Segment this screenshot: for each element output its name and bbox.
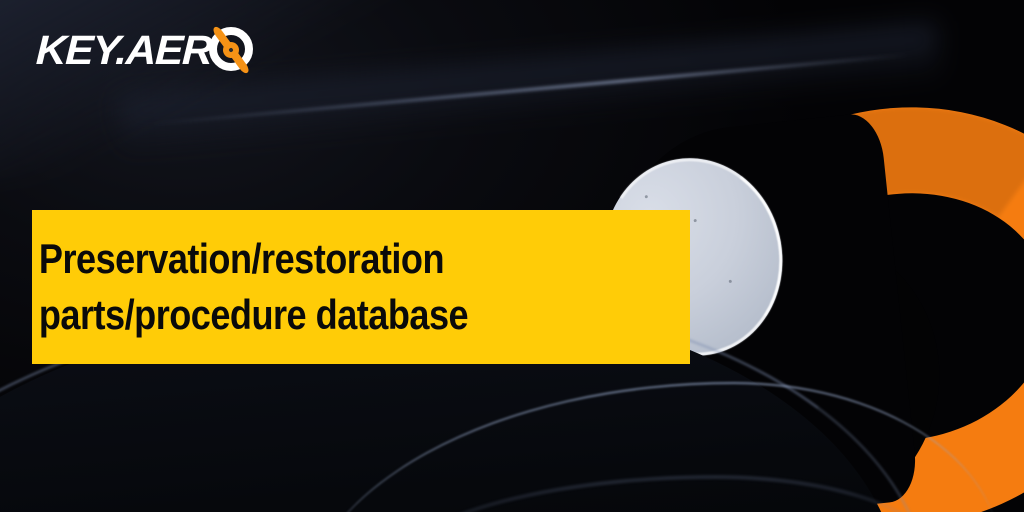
propeller-icon xyxy=(206,25,256,75)
title-line-1: Preservation/restoration xyxy=(32,231,598,287)
key-aero-logo[interactable]: KEY.AER xyxy=(36,22,256,78)
title-line-2: parts/procedure database xyxy=(32,287,598,343)
article-header-banner: Preservation/restoration parts/procedure… xyxy=(0,0,1024,512)
logo-wordmark: KEY.AER xyxy=(35,30,212,71)
propeller-blades xyxy=(196,15,266,85)
title-banner: Preservation/restoration parts/procedure… xyxy=(32,210,690,364)
